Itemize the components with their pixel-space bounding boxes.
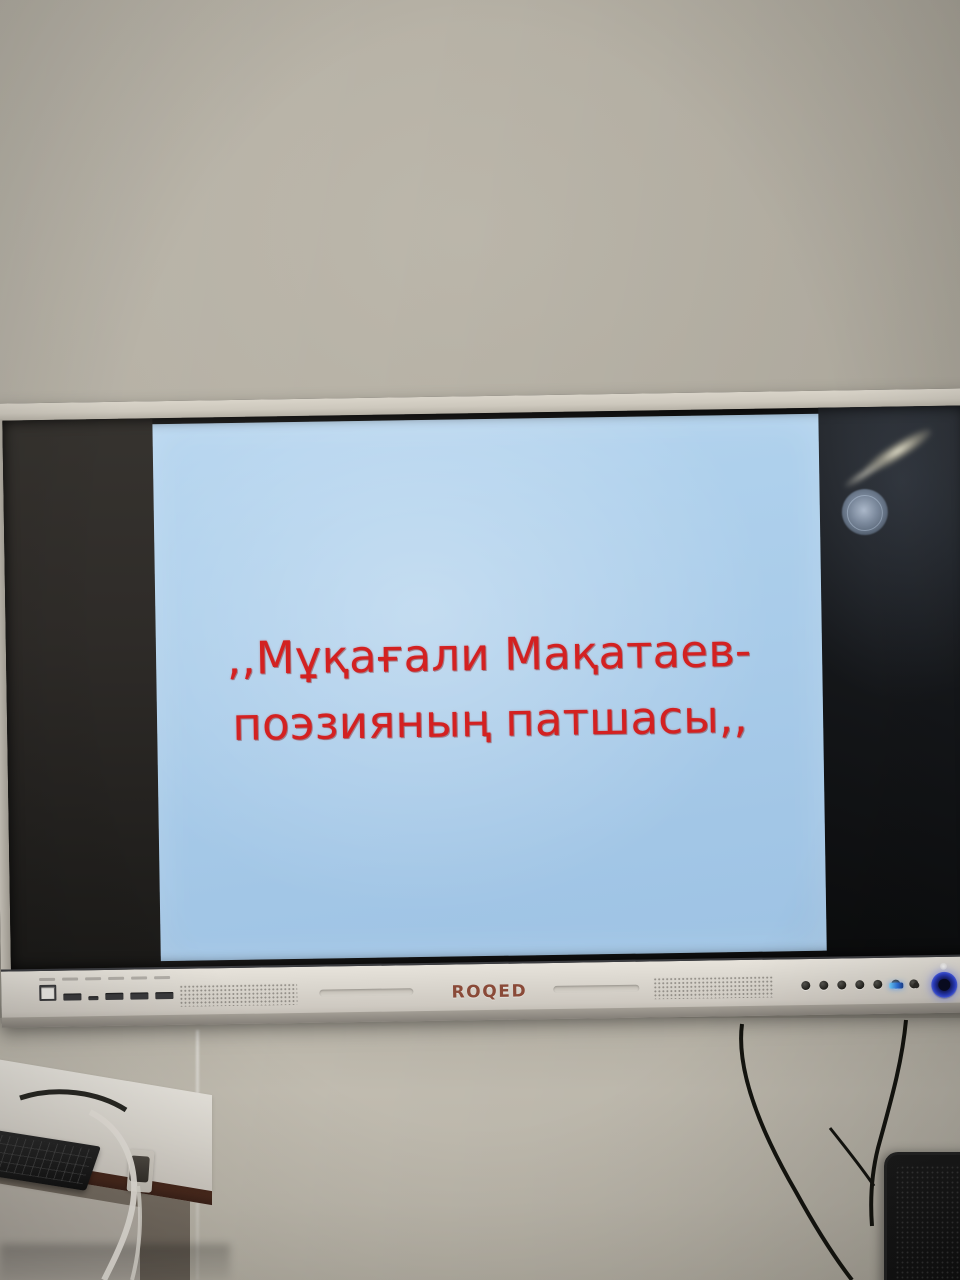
hdmi-port-3-icon[interactable]: [130, 992, 148, 999]
display-body: ,,Мұқағали Мақатаев- поэзияның патшасы,,: [0, 388, 960, 1023]
control-button-2[interactable]: [819, 981, 828, 990]
hdmi-port-1-icon[interactable]: [63, 993, 81, 1000]
speaker-grille-left: [179, 983, 297, 1007]
letterbox-right: [818, 405, 960, 956]
ir-sensor-icon: [913, 982, 919, 988]
presentation-slide[interactable]: ,,Мұқағали Мақатаев- поэзияның патшасы,,: [152, 414, 826, 961]
room-photo-scene: ,,Мұқағали Мақатаев- поэзияның патшасы,,: [0, 0, 960, 1280]
usb-b-port-icon[interactable]: [39, 985, 56, 1001]
slide-title: ,,Мұқағали Мақатаев- поэзияның патшасы,,: [194, 618, 786, 758]
brand-logo: ROQED: [433, 981, 545, 1003]
display-screen[interactable]: ,,Мұқағали Мақатаев- поэзияның патшасы,,: [2, 405, 960, 969]
usb-port-1-icon[interactable]: [88, 996, 98, 1000]
hdmi-port-2-icon[interactable]: [105, 993, 123, 1000]
port-labels: [39, 976, 170, 981]
power-plug[interactable]: [129, 1155, 150, 1182]
control-button-4[interactable]: [855, 980, 864, 989]
interactive-display[interactable]: ,,Мұқағали Мақатаев- поэзияның патшасы,,: [0, 388, 960, 1039]
letterbox-left: [2, 418, 161, 969]
control-button-1[interactable]: [801, 981, 810, 990]
speaker-grille-right: [653, 976, 773, 1000]
status-led-indicator: [889, 982, 903, 988]
port-cluster[interactable]: [39, 983, 173, 1001]
hdmi-port-4-icon[interactable]: [155, 992, 173, 999]
floor-shadow: [0, 1244, 230, 1280]
vent-slot-left: [319, 988, 413, 996]
power-button-highlight: [940, 963, 947, 970]
control-button-5[interactable]: [873, 980, 882, 989]
control-button-3[interactable]: [837, 980, 846, 989]
vent-slot-right: [553, 985, 639, 993]
chair-mesh-back: [895, 1165, 960, 1280]
office-chair: [884, 1152, 960, 1280]
